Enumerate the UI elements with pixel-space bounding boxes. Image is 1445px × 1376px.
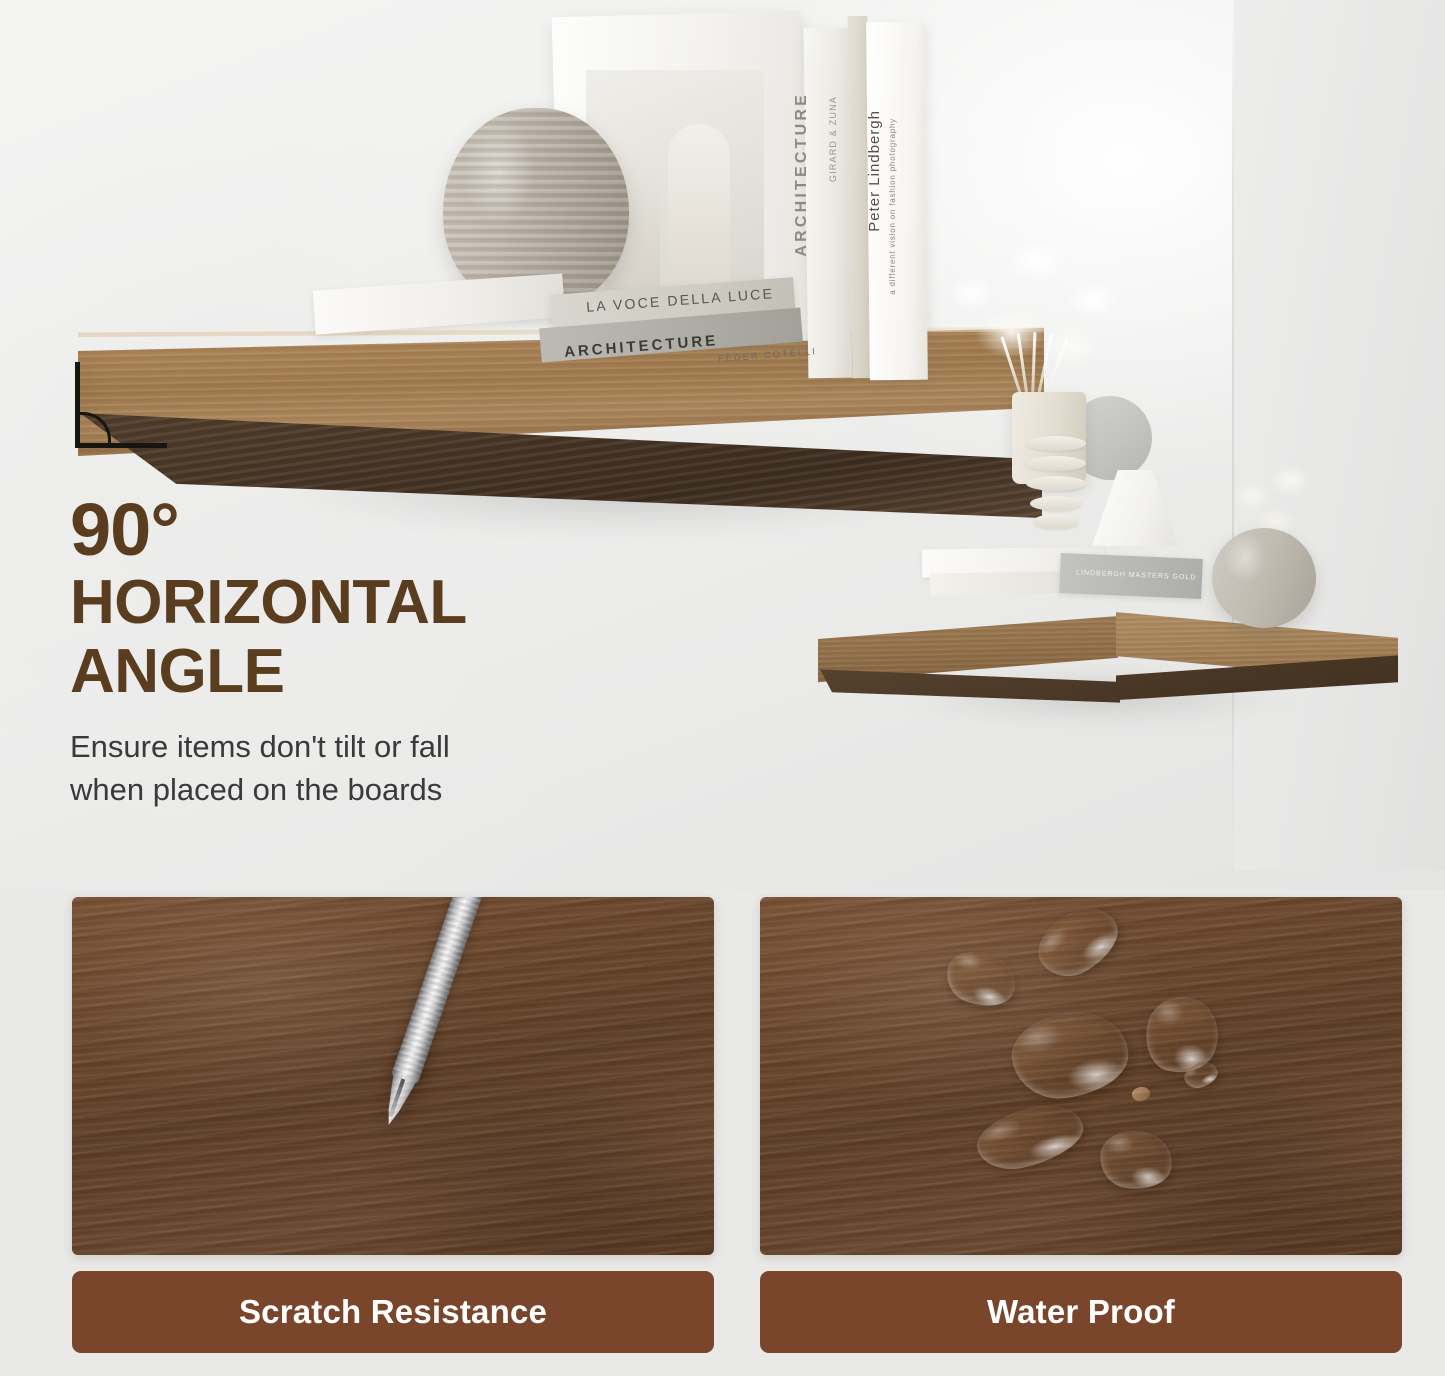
- subtitle-line-2: when placed on the boards: [70, 769, 750, 811]
- angle-marker-horizontal-line: [75, 443, 167, 448]
- water-drop-icon: [1181, 1058, 1221, 1092]
- caption-bar-scratch-resistance: Scratch Resistance: [72, 1271, 714, 1353]
- book-spine-vertical-peter: Peter Lindbergh: [866, 110, 883, 232]
- feature-card-scratch-resistance: Scratch Resistance: [72, 897, 714, 1353]
- angle-marker-arc: [80, 412, 111, 443]
- caption-label-scratch-resistance: Scratch Resistance: [239, 1293, 547, 1331]
- screwdriver-shadow: [343, 977, 471, 1179]
- screwdriver-shaft: [391, 897, 485, 1084]
- book-cover-arch-shape-2: [668, 124, 730, 290]
- stacked-rings-decor: [1026, 436, 1086, 554]
- wood-grain-shading: [760, 897, 1402, 1255]
- headline-line-3: ANGLE: [70, 640, 750, 703]
- headline-block: 90° HORIZONTAL ANGLE Ensure items don't …: [70, 494, 750, 811]
- water-drop-icon: [1007, 1005, 1134, 1104]
- screwdriver-icon: [371, 897, 490, 1128]
- wall-right-panel: [1234, 0, 1445, 870]
- feature-card-water-proof: Water Proof: [760, 897, 1402, 1353]
- water-drop-icon: [1027, 897, 1129, 989]
- headline-line-2: HORIZONTAL: [70, 571, 750, 634]
- product-feature-page: ARCHITECTURE GIRARD & ZUNA Peter Lindber…: [0, 0, 1445, 1376]
- screwdriver-phillips-notch: [388, 1078, 405, 1117]
- subtitle-line-1: Ensure items don't tilt or fall: [70, 726, 750, 768]
- screwdriver-on-wood-photo: [72, 897, 714, 1255]
- water-drop-icon: [1131, 1086, 1151, 1103]
- water-drop-icon: [1139, 990, 1225, 1079]
- wood-grain-shading: [72, 897, 714, 1255]
- caption-bar-water-proof: Water Proof: [760, 1271, 1402, 1353]
- round-stone-vase: [1212, 528, 1316, 628]
- screwdriver-tip: [376, 1069, 418, 1129]
- book-spine-vertical-architecture: ARCHITECTURE: [793, 92, 811, 257]
- book-spine-vertical-peter-sub: a different vision on fashion photograph…: [888, 118, 897, 295]
- angle-value-heading: 90°: [70, 494, 750, 565]
- right-angle-marker-icon: [72, 362, 168, 448]
- book-spine-vertical-architecture-sub: GIRARD & ZUNA: [828, 96, 838, 182]
- water-droplets-on-wood-photo: [760, 897, 1402, 1255]
- lower-floating-shelf: [818, 600, 1398, 730]
- water-drop-icon: [1097, 1127, 1175, 1192]
- water-drop-icon: [970, 1095, 1089, 1179]
- caption-label-water-proof: Water Proof: [987, 1293, 1175, 1331]
- water-drop-icon: [940, 943, 1023, 1014]
